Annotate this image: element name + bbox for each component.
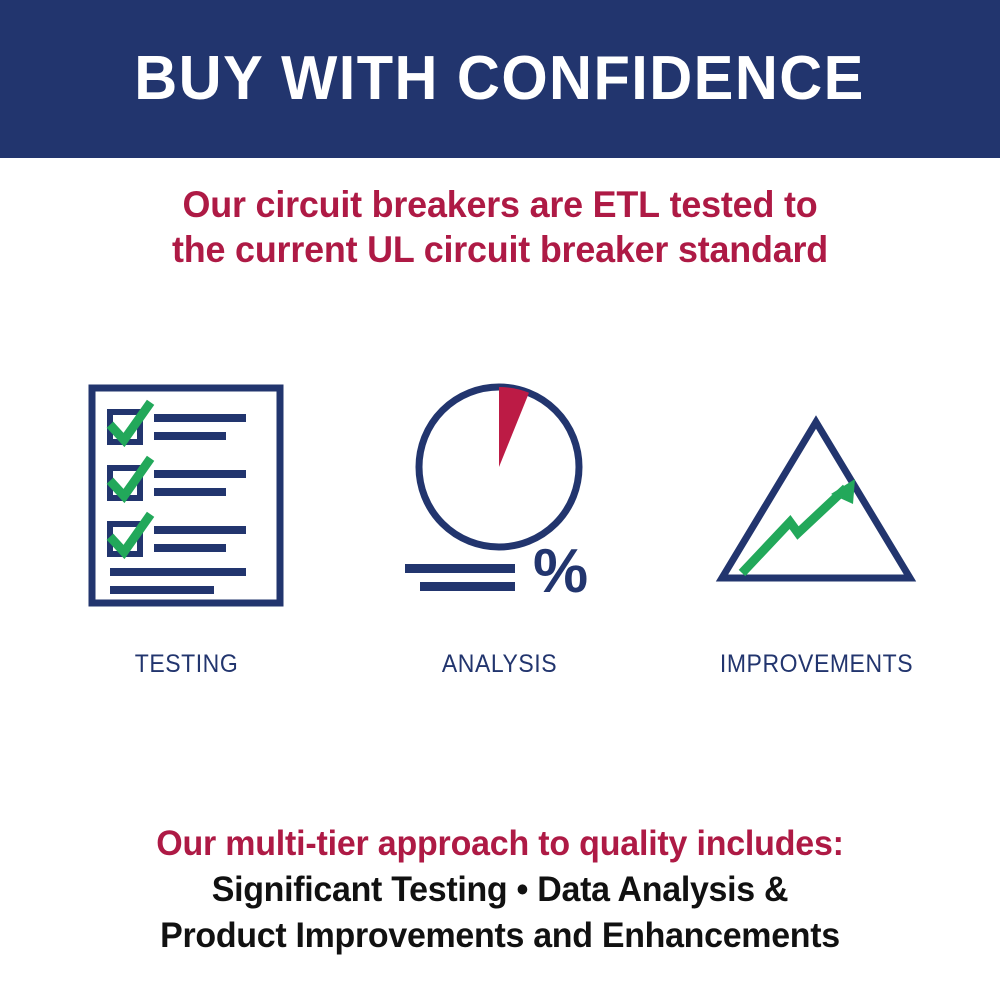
feature-label-improvements: IMPROVEMENTS — [663, 650, 969, 679]
feature-testing: TESTING — [20, 370, 353, 690]
feature-analysis: % ANALYSIS — [333, 370, 666, 690]
checklist-document-icon — [20, 370, 353, 615]
feature-label-testing: TESTING — [33, 650, 339, 679]
subtitle-etl-emphasis: ETL — [593, 184, 660, 225]
bottom-body-line-1: Significant Testing • Data Analysis & — [15, 868, 985, 912]
triangle-growth-arrow-icon — [650, 370, 983, 615]
bottom-text-block: Our multi-tier approach to quality inclu… — [0, 822, 1000, 958]
subtitle-line-2-text-a: the current — [172, 229, 367, 270]
feature-icon-row: TESTING % ANALYSIS — [0, 370, 1000, 690]
subtitle-ul-standard-emphasis: UL circuit breaker standard — [367, 229, 828, 270]
pie-chart-percent-icon: % — [333, 370, 666, 615]
page-title: BUY WITH CONFIDENCE — [135, 48, 866, 110]
subtitle: Our circuit breakers are ETL tested to t… — [15, 182, 985, 272]
subtitle-line-1-text-a: Our circuit breakers are — [183, 184, 593, 225]
feature-improvements: IMPROVEMENTS — [650, 370, 983, 690]
svg-text:%: % — [533, 537, 588, 606]
subtitle-line-2: the current UL circuit breaker standard — [15, 227, 985, 272]
subtitle-line-1-text-b: tested to — [660, 184, 818, 225]
header-band: BUY WITH CONFIDENCE — [0, 0, 1000, 158]
bottom-body-line-2: Product Improvements and Enhancements — [15, 914, 985, 958]
subtitle-line-1: Our circuit breakers are ETL tested to — [15, 182, 985, 227]
bottom-lead-text: Our multi-tier approach to quality inclu… — [15, 822, 985, 866]
feature-label-analysis: ANALYSIS — [346, 650, 652, 679]
